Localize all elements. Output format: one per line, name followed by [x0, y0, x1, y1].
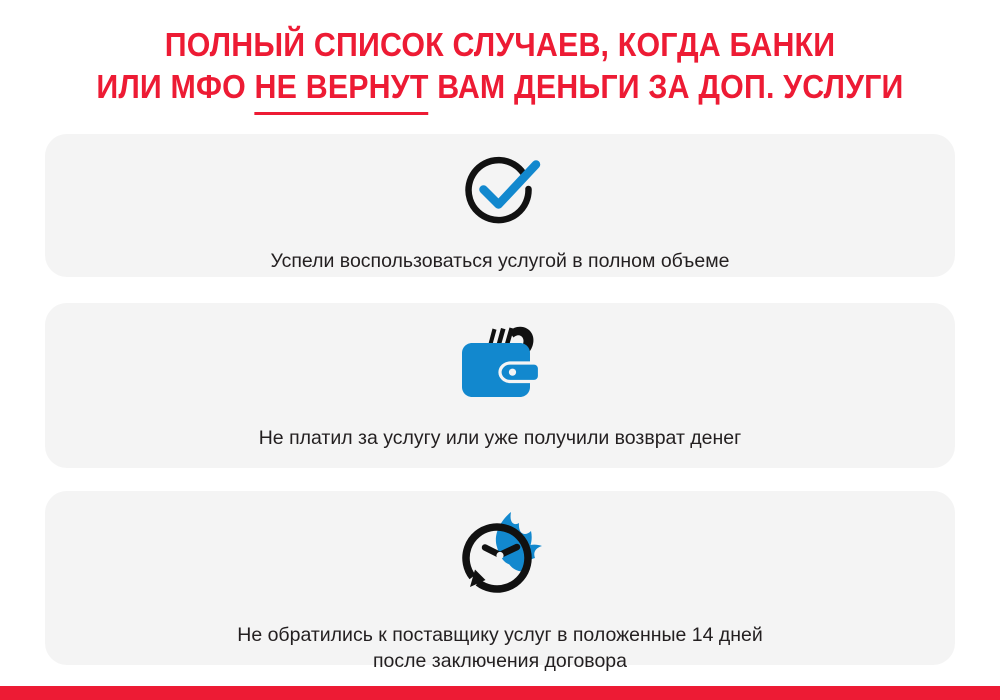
reason-card-2: Не платил за услугу или уже получили воз…	[45, 303, 955, 468]
title-line-2-suffix: ВАМ ДЕНЬГИ ЗА ДОП. УСЛУГИ	[429, 68, 904, 105]
reason-card-3: Не обратились к поставщику услуг в полож…	[45, 491, 955, 665]
wallet-with-banknotes-icon	[454, 319, 546, 403]
reason-card-1-text: Успели воспользоваться услугой в полном …	[45, 248, 955, 274]
title-line-2-prefix: ИЛИ МФО	[96, 68, 254, 105]
reason-card-3-text-line-2: после заключения договора	[85, 648, 915, 674]
title-emphasis-underlined: НЕ ВЕРНУТ	[255, 66, 429, 108]
reason-card-1: Успели воспользоваться услугой в полном …	[45, 134, 955, 277]
title-line-2: ИЛИ МФО НЕ ВЕРНУТ ВАМ ДЕНЬГИ ЗА ДОП. УСЛ…	[40, 66, 960, 108]
page-title: ПОЛНЫЙ СПИСОК СЛУЧАЕВ, КОГДА БАНКИ ИЛИ М…	[0, 24, 1000, 108]
title-line-1: ПОЛНЫЙ СПИСОК СЛУЧАЕВ, КОГДА БАНКИ	[40, 24, 960, 66]
clock-on-fire-icon	[445, 501, 555, 606]
reason-card-2-text: Не платил за услугу или уже получили воз…	[45, 425, 955, 451]
footer-accent-bar	[0, 686, 1000, 700]
reason-card-3-text-line-1: Не обратились к поставщику услуг в полож…	[85, 622, 915, 648]
check-circle-icon	[457, 148, 543, 230]
reason-card-3-text: Не обратились к поставщику услуг в полож…	[45, 622, 955, 674]
infographic-page: ПОЛНЫЙ СПИСОК СЛУЧАЕВ, КОГДА БАНКИ ИЛИ М…	[0, 0, 1000, 700]
